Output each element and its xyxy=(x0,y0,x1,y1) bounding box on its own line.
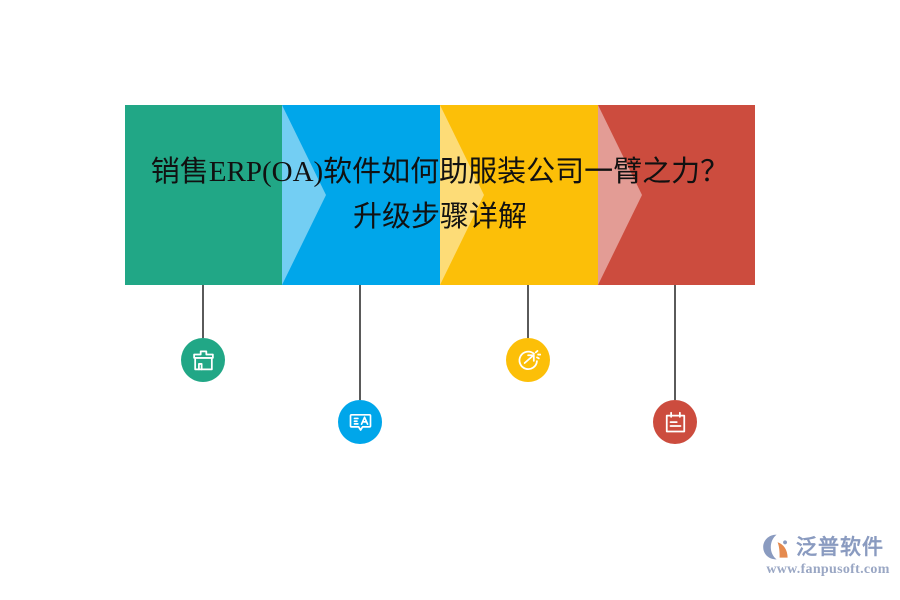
shop-icon xyxy=(191,348,216,373)
node-translate[interactable] xyxy=(338,400,382,444)
banner-title: 销售ERP(OA)软件如何助服装公司一臂之力？ 升级步骤详解 xyxy=(125,105,755,285)
watermark-row: 泛普软件 xyxy=(762,533,894,561)
watermark-logo: 泛普软件 www.fanpusoft.com xyxy=(762,533,894,585)
watermark-url: www.fanpusoft.com xyxy=(762,562,894,578)
node-boost[interactable] xyxy=(506,338,550,382)
fanpu-logo-mark xyxy=(762,533,792,561)
connector-line-4 xyxy=(674,285,676,400)
node-notepad[interactable] xyxy=(653,400,697,444)
poster-canvas: 销售ERP(OA)软件如何助服装公司一臂之力？ 升级步骤详解 xyxy=(0,0,900,600)
banner: 销售ERP(OA)软件如何助服装公司一臂之力？ 升级步骤详解 xyxy=(125,105,755,285)
connector-line-2 xyxy=(359,285,361,400)
watermark-company: 泛普软件 xyxy=(796,534,884,560)
node-shop[interactable] xyxy=(181,338,225,382)
connector-line-1 xyxy=(202,285,204,338)
boost-icon xyxy=(516,348,541,373)
translate-icon xyxy=(348,410,373,435)
banner-title-line-1: 销售ERP(OA)软件如何助服装公司一臂之力？ xyxy=(151,150,729,195)
banner-title-line-2: 升级步骤详解 xyxy=(353,195,527,240)
connector-line-3 xyxy=(527,285,529,338)
notepad-icon xyxy=(663,410,688,435)
